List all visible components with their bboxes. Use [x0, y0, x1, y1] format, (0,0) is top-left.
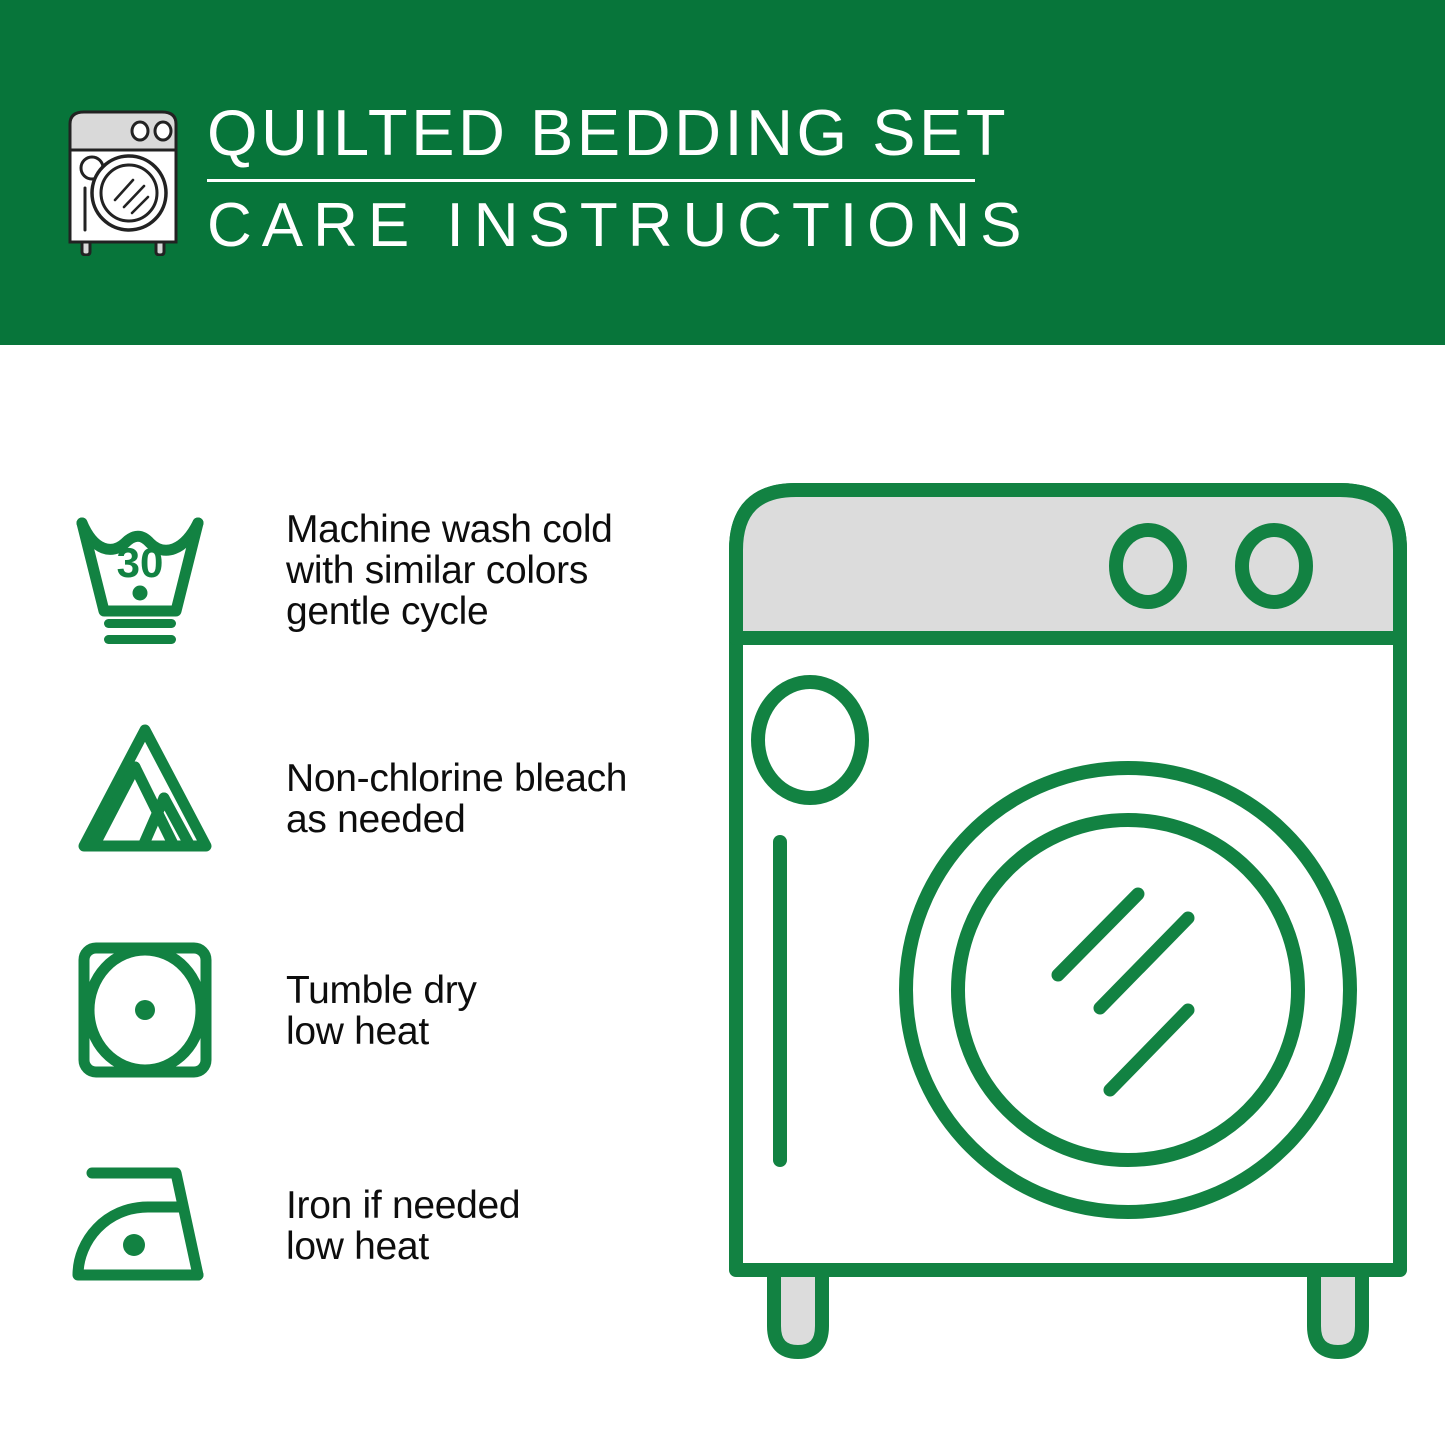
care-item-label: Non-chlorine bleach as needed [286, 720, 627, 840]
care-item-tumble-dry: Tumble dry low heat [72, 940, 692, 1080]
care-item-iron: Iron if needed low heat [72, 1155, 692, 1295]
control-knob-right [1242, 530, 1306, 602]
header-divider [207, 179, 975, 182]
detergent-dispenser-circle [758, 682, 862, 798]
care-label-line-3: gentle cycle [286, 591, 613, 632]
tumble-dry-icon [72, 940, 224, 1080]
care-label-line-1: Machine wash cold [286, 509, 613, 550]
header-text-block: QUILTED BEDDING SET CARE INSTRUCTIONS [207, 98, 997, 260]
care-label-line-1: Tumble dry [286, 970, 477, 1011]
care-label-line-2: as needed [286, 799, 627, 840]
care-label-line-2: with similar colors [286, 550, 613, 591]
bleach-triangle-icon [72, 720, 224, 860]
care-label-line-2: low heat [286, 1226, 520, 1267]
page-subtitle: CARE INSTRUCTIONS [207, 192, 997, 260]
care-item-label: Machine wash cold with similar colors ge… [286, 505, 613, 632]
care-label-line-2: low heat [286, 1011, 477, 1052]
care-item-label: Tumble dry low heat [286, 940, 477, 1052]
page-title: QUILTED BEDDING SET [207, 98, 997, 168]
header-banner: QUILTED BEDDING SET CARE INSTRUCTIONS [0, 0, 1445, 345]
care-instructions-page: QUILTED BEDDING SET CARE INSTRUCTIONS 30 [0, 0, 1445, 1445]
care-label-line-1: Non-chlorine bleach [286, 758, 627, 799]
care-instruction-list: 30 Machine wash cold with similar colors… [0, 345, 700, 1445]
control-knob-left [1116, 530, 1180, 602]
iron-icon [72, 1155, 224, 1295]
care-label-line-1: Iron if needed [286, 1185, 520, 1226]
care-item-bleach: Non-chlorine bleach as needed [72, 720, 692, 860]
care-item-machine-wash: 30 Machine wash cold with similar colors… [72, 505, 692, 645]
washing-machine-illustration [718, 470, 1418, 1370]
leg-left [774, 1270, 822, 1352]
wash-tub-30-icon: 30 [72, 505, 224, 645]
svg-text:30: 30 [117, 539, 164, 586]
care-item-label: Iron if needed low heat [286, 1155, 520, 1267]
leg-right [1314, 1270, 1362, 1352]
washing-machine-logo-icon [62, 104, 184, 256]
